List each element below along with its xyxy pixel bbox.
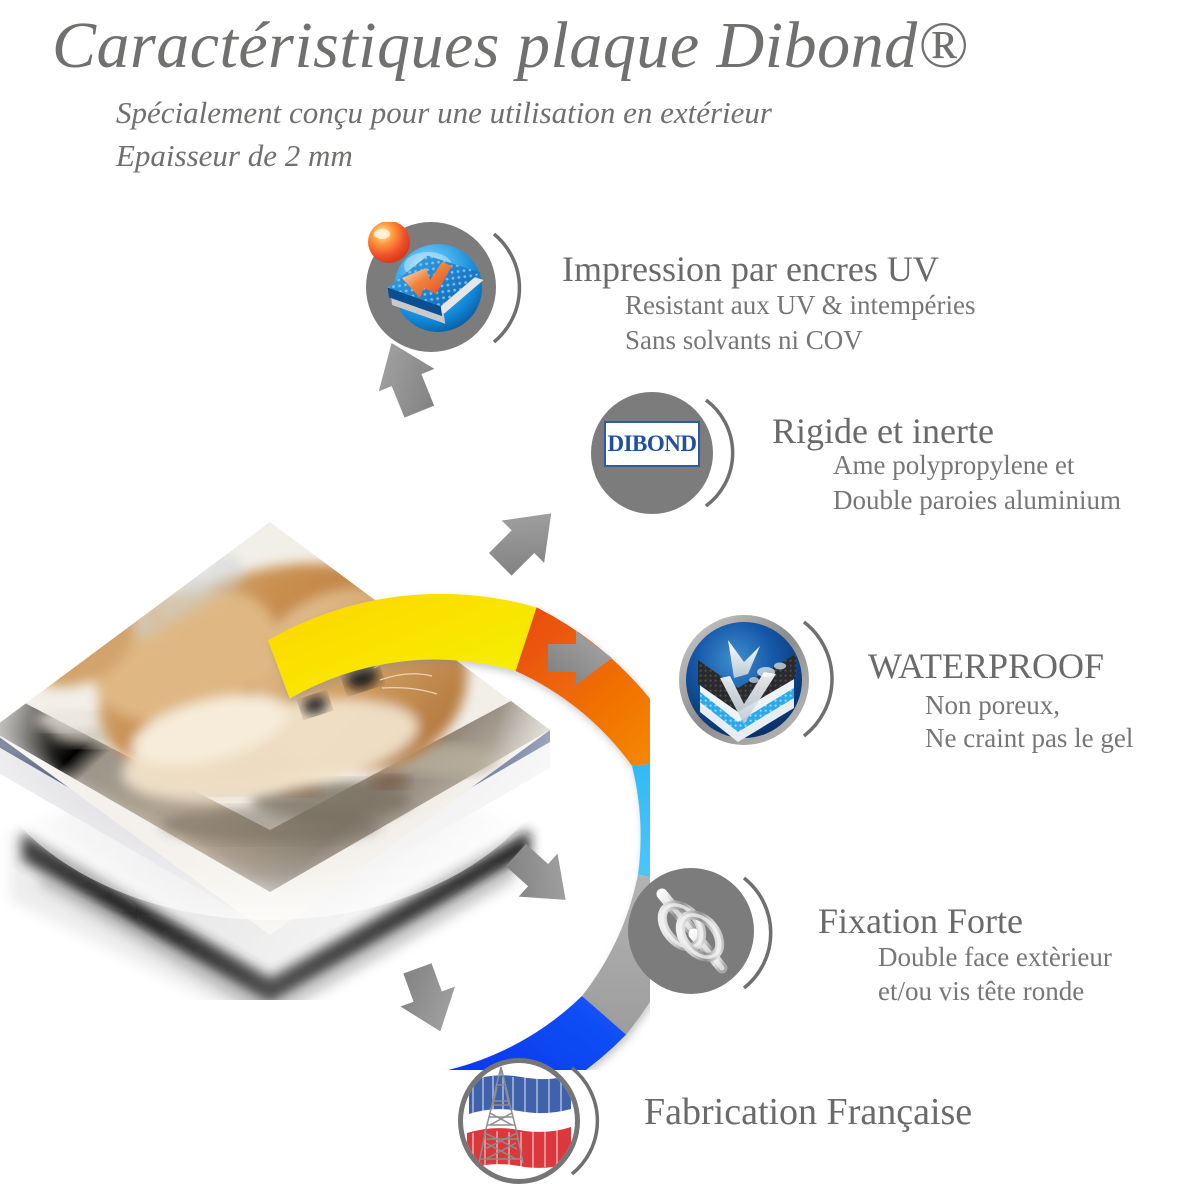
arrow-to-rigide — [479, 492, 572, 585]
feature-sub2-waterproof: Ne craint pas le gel — [925, 723, 1133, 754]
feature-sub2-rigide: Double paroies aluminium — [833, 485, 1121, 516]
feature-sub1-waterproof: Non poreux, — [925, 690, 1060, 721]
badge-fabrication-francaise[interactable] — [458, 1058, 580, 1184]
wheel-radial-arrows — [0, 0, 1199, 1199]
badge-arc-fabrication — [566, 1062, 624, 1182]
badge-arc-rigide — [700, 394, 760, 514]
feature-title-fabrication: Fabrication Française — [644, 1090, 972, 1134]
badge-arc-fixation — [738, 872, 798, 996]
feature-sub1-uv: Resistant aux UV & intempéries — [625, 290, 975, 321]
feature-sub2-uv: Sans solvants ni COV — [625, 325, 863, 356]
badge-fixation[interactable] — [628, 868, 754, 994]
feature-sub1-rigide: Ame polypropylene et — [833, 450, 1074, 481]
dibond-logo-text: DIBOND — [607, 431, 696, 457]
feature-sub1-fixation: Double face extèrieur — [878, 942, 1112, 973]
arrow-to-fabrication — [390, 958, 467, 1041]
feature-sub2-fixation: et/ou vis tête ronde — [878, 976, 1084, 1007]
feature-title-uv: Impression par encres UV — [562, 248, 939, 290]
badge-arc-uv — [486, 226, 550, 350]
feature-title-rigide: Rigide et inerte — [772, 410, 994, 452]
arrow-to-waterproof — [548, 631, 612, 685]
feature-title-fixation: Fixation Forte — [818, 900, 1023, 942]
arrow-to-fixation — [496, 833, 585, 921]
badge-waterproof[interactable] — [676, 612, 812, 748]
badge-arc-waterproof — [798, 616, 860, 744]
dibond-logo-box: DIBOND — [604, 421, 700, 467]
feature-title-waterproof: WATERPROOF — [868, 645, 1104, 687]
badge-uv-printing[interactable] — [366, 222, 496, 352]
infographic-canvas: Caractéristiques plaque Dibond® Spéciale… — [0, 0, 1199, 1199]
